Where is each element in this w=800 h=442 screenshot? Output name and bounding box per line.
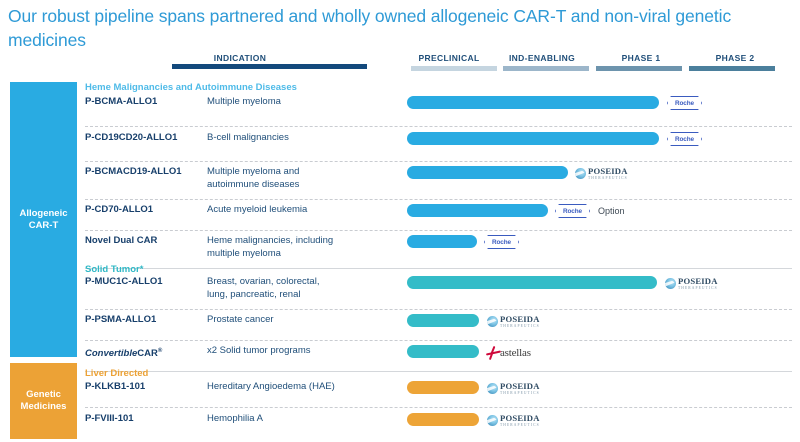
column-header-ind-enabling: IND-ENABLING: [493, 53, 591, 63]
program-name: P-KLKB1-101: [85, 381, 203, 393]
indication-text: Heme malignancies, including multiple my…: [207, 235, 397, 260]
table-row[interactable]: P-MUC1C-ALLO1 Breast, ovarian, colorecta…: [85, 276, 792, 306]
indication-header-rule: [172, 64, 367, 69]
indication-line-1: Heme malignancies, including: [207, 235, 397, 248]
progress-bar: [407, 204, 548, 217]
row-divider: [85, 126, 792, 127]
sidebar-label-line-2: CAR-T: [19, 220, 67, 232]
indication-line-1: Multiple myeloma and: [207, 166, 397, 179]
progress-bar: [407, 276, 657, 289]
indication-text: Breast, ovarian, colorectal, lung, pancr…: [207, 276, 397, 301]
table-row[interactable]: P-PSMA-ALLO1 Prostate cancer POSEIDA THE…: [85, 314, 792, 340]
sidebar-label-line-2: Medicines: [21, 401, 67, 413]
poseida-logo-text: POSEIDA: [500, 414, 540, 423]
progress-bar: [407, 235, 477, 248]
progress-bar: [407, 381, 479, 394]
indication-text: Hereditary Angioedema (HAE): [207, 381, 397, 394]
poseida-logo-text: POSEIDA: [500, 315, 540, 324]
partner-logo-poseida: POSEIDA THERAPEUTICS: [665, 276, 718, 291]
program-name: P-BCMACD19-ALLO1: [85, 166, 203, 178]
progress-bar: [407, 96, 659, 109]
poseida-logo-subtext: THERAPEUTICS: [588, 176, 628, 181]
progress-bar-track: Roche Option: [407, 204, 792, 218]
program-name: P-FVIII-101: [85, 413, 203, 425]
table-row[interactable]: P-BCMACD19-ALLO1 Multiple myeloma and au…: [85, 166, 792, 196]
progress-bar-track: Roche: [407, 235, 792, 249]
roche-logo-text: Roche: [667, 96, 702, 110]
partner-logo-roche: Roche: [484, 235, 519, 249]
partner-logo-roche: Roche: [667, 132, 702, 146]
progress-bar-track: Roche: [407, 96, 792, 110]
ind-enabling-header-rule: [503, 66, 589, 71]
poseida-logo-text: POSEIDA: [678, 277, 718, 286]
program-name: Novel Dual CAR: [85, 235, 203, 247]
program-name: P-CD70-ALLO1: [85, 204, 203, 216]
astellas-star-icon: [485, 346, 501, 360]
section-header-liver-directed: Liver Directed: [85, 368, 148, 380]
indication-text: x2 Solid tumor programs: [207, 345, 397, 358]
table-row[interactable]: Novel Dual CAR Heme malignancies, includ…: [85, 235, 792, 265]
partner-logo-poseida: POSEIDA THERAPEUTICS: [487, 314, 540, 329]
poseida-mark-icon: [575, 168, 586, 179]
progress-bar: [407, 314, 479, 327]
progress-bar-track: POSEIDA THERAPEUTICS: [407, 166, 792, 180]
progress-bar-track: POSEIDA THERAPEUTICS: [407, 276, 792, 290]
indication-text: Acute myeloid leukemia: [207, 204, 397, 217]
progress-bar: [407, 345, 479, 358]
progress-bar: [407, 413, 479, 426]
poseida-logo-subtext: THERAPEUTICS: [678, 286, 718, 291]
table-row[interactable]: P-BCMA-ALLO1 Multiple myeloma Roche: [85, 96, 792, 124]
sidebar-label-line-1: Allogeneic: [19, 208, 67, 220]
program-name: ConvertibleCAR®: [85, 345, 203, 360]
column-header-indication: INDICATION: [150, 53, 330, 63]
phase-1-header-rule: [596, 66, 682, 71]
poseida-mark-icon: [487, 415, 498, 426]
sidebar-item-allogeneic-car-t[interactable]: Allogeneic CAR-T: [10, 82, 77, 357]
partner-logo-roche: Roche: [555, 204, 590, 218]
poseida-mark-icon: [665, 278, 676, 289]
program-name-registered-mark: ®: [158, 348, 162, 354]
progress-bar: [407, 132, 659, 145]
table-row[interactable]: P-KLKB1-101 Hereditary Angioedema (HAE) …: [85, 381, 792, 407]
table-row[interactable]: P-CD70-ALLO1 Acute myeloid leukemia Roch…: [85, 204, 792, 230]
poseida-logo-subtext: THERAPEUTICS: [500, 391, 540, 396]
section-header-heme: Heme Malignancies and Autoimmune Disease…: [85, 82, 297, 94]
progress-bar-track: astellas: [407, 345, 792, 359]
row-divider: [85, 371, 792, 372]
poseida-logo-subtext: THERAPEUTICS: [500, 423, 540, 428]
progress-bar-track: POSEIDA THERAPEUTICS: [407, 381, 792, 395]
indication-text: Prostate cancer: [207, 314, 397, 327]
roche-logo-text: Roche: [484, 235, 519, 249]
progress-bar-track: POSEIDA THERAPEUTICS: [407, 314, 792, 328]
astellas-logo-text: astellas: [500, 347, 531, 359]
indication-line-2: lung, pancreatic, renal: [207, 289, 397, 302]
progress-bar: [407, 166, 568, 179]
program-name: P-PSMA-ALLO1: [85, 314, 203, 326]
program-name: P-BCMA-ALLO1: [85, 96, 203, 108]
sidebar-item-genetic-medicines[interactable]: Genetic Medicines: [10, 363, 77, 439]
progress-bar-track: Roche: [407, 132, 792, 146]
indication-text: Multiple myeloma and autoimmune diseases: [207, 166, 397, 191]
roche-logo-text: Roche: [555, 204, 590, 218]
partner-logo-roche: Roche: [667, 96, 702, 110]
program-name: P-CD19CD20-ALLO1: [85, 132, 203, 144]
column-header-phase-1: PHASE 1: [598, 53, 684, 63]
row-divider: [85, 340, 792, 341]
program-name-italic-part: Convertible: [85, 348, 137, 359]
table-row[interactable]: P-FVIII-101 Hemophilia A POSEIDA THERAPE…: [85, 413, 792, 439]
roche-logo-text: Roche: [667, 132, 702, 146]
progress-bar-track: POSEIDA THERAPEUTICS: [407, 413, 792, 427]
partner-logo-poseida: POSEIDA THERAPEUTICS: [487, 381, 540, 396]
section-header-solid-tumor: Solid Tumor*: [85, 264, 143, 276]
phase-2-header-rule: [689, 66, 775, 71]
column-header-preclinical: PRECLINICAL: [404, 53, 494, 63]
column-header-phase-2: PHASE 2: [692, 53, 778, 63]
poseida-logo-text: POSEIDA: [500, 382, 540, 391]
indication-text: Multiple myeloma: [207, 96, 397, 109]
program-name-rest: CAR: [137, 348, 158, 359]
poseida-logo-subtext: THERAPEUTICS: [500, 324, 540, 329]
row-divider: [85, 268, 792, 269]
poseida-mark-icon: [487, 316, 498, 327]
row-divider: [85, 199, 792, 200]
table-row[interactable]: P-CD19CD20-ALLO1 B-cell malignancies Roc…: [85, 132, 792, 160]
indication-text: B-cell malignancies: [207, 132, 397, 145]
indication-line-2: multiple myeloma: [207, 248, 397, 261]
partner-logo-poseida: POSEIDA THERAPEUTICS: [575, 166, 628, 181]
poseida-mark-icon: [487, 383, 498, 394]
row-divider: [85, 309, 792, 310]
indication-line-2: autoimmune diseases: [207, 179, 397, 192]
page-title: Our robust pipeline spans partnered and …: [8, 4, 798, 52]
option-note: Option: [598, 204, 625, 218]
row-divider: [85, 161, 792, 162]
preclinical-header-rule: [411, 66, 497, 71]
row-divider: [85, 230, 792, 231]
partner-logo-astellas: astellas: [485, 345, 531, 360]
sidebar-label-line-1: Genetic: [21, 389, 67, 401]
pipeline-slide: Our robust pipeline spans partnered and …: [0, 0, 800, 442]
indication-text: Hemophilia A: [207, 413, 397, 426]
partner-logo-poseida: POSEIDA THERAPEUTICS: [487, 413, 540, 428]
table-row[interactable]: ConvertibleCAR® x2 Solid tumor programs …: [85, 345, 792, 371]
row-divider: [85, 407, 792, 408]
indication-line-1: Breast, ovarian, colorectal,: [207, 276, 397, 289]
program-name: P-MUC1C-ALLO1: [85, 276, 203, 288]
poseida-logo-text: POSEIDA: [588, 167, 628, 176]
